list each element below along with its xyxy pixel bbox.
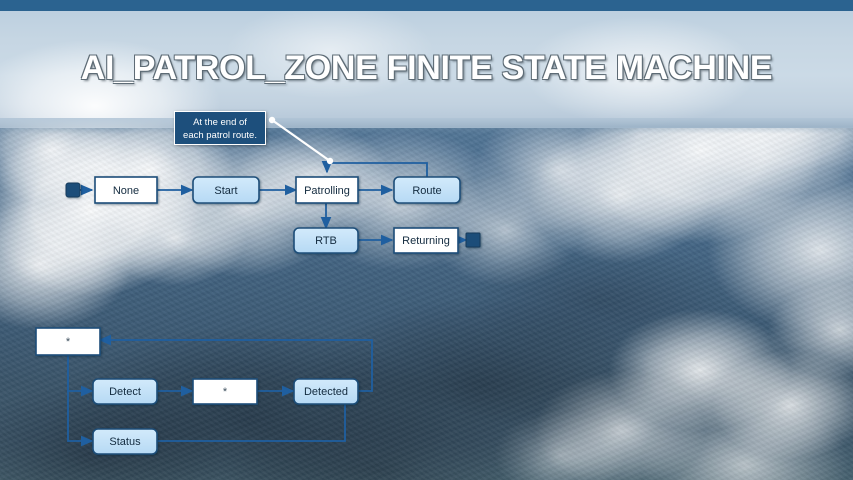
slide-canvas: AI_PATROL_ZONE FINITE STATE MACHINE At t… [0, 0, 853, 480]
edge-anytop-status [68, 391, 92, 441]
node-start-label: Start [214, 185, 237, 197]
node-detected[interactable]: Detected [294, 379, 358, 404]
node-status[interactable]: Status [93, 429, 157, 454]
node-returning-label: Returning [402, 235, 450, 247]
node-detect[interactable]: Detect [93, 379, 157, 404]
node-any-mid[interactable]: * [193, 379, 257, 404]
start-marker [66, 183, 80, 197]
node-none-label: None [113, 185, 139, 197]
node-route[interactable]: Route [394, 177, 460, 203]
state-machine-diagram: None Start Patrolling Route RTB Returnin… [0, 0, 853, 480]
node-detect-label: Detect [109, 386, 141, 398]
node-rtb-label: RTB [315, 235, 337, 247]
node-status-label: Status [109, 436, 141, 448]
node-any-top-label: * [66, 336, 71, 348]
node-route-label: Route [412, 185, 441, 197]
callout-leader [269, 117, 333, 164]
node-patrolling[interactable]: Patrolling [296, 177, 358, 203]
node-start[interactable]: Start [193, 177, 259, 203]
edge-anytop-detect [68, 355, 92, 391]
node-patrolling-label: Patrolling [304, 185, 350, 197]
end-marker [466, 233, 480, 247]
edge-route-patrolling [327, 163, 427, 177]
node-any-mid-label: * [223, 386, 228, 398]
node-none[interactable]: None [95, 177, 157, 203]
node-returning[interactable]: Returning [394, 228, 458, 253]
node-rtb[interactable]: RTB [294, 228, 358, 253]
node-any-top[interactable]: * [36, 328, 100, 355]
node-detected-label: Detected [304, 386, 348, 398]
